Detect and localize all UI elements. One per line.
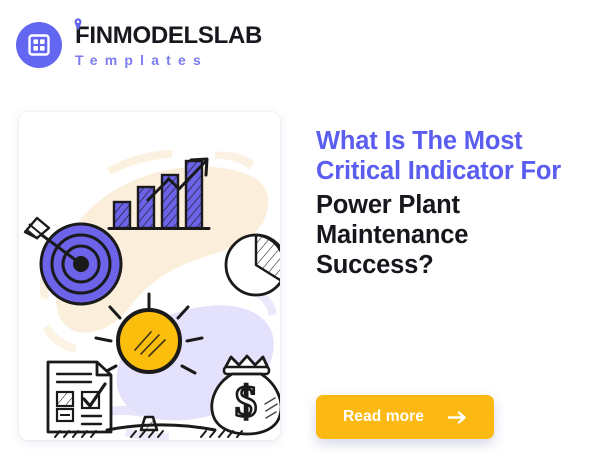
headline-accent: What Is The Most Critical Indicator For (316, 126, 588, 186)
pie-chart-icon (226, 235, 280, 295)
svg-text:$: $ (235, 377, 257, 426)
read-more-label: Read more (343, 408, 424, 426)
brand-name: FINMODELSLAB (75, 24, 262, 48)
grid-squares-icon (16, 22, 62, 68)
headline-block: What Is The Most Critical Indicator For … (316, 126, 588, 280)
business-analytics-illustration: $ (19, 112, 280, 440)
arrow-right-icon (448, 411, 467, 424)
document-checklist-icon (47, 362, 111, 435)
brand-wordmark: FINMODELSLAB Templates (75, 24, 262, 67)
read-more-button[interactable]: Read more (316, 395, 494, 439)
brand-subtitle: Templates (75, 53, 262, 67)
brand-logo[interactable]: FINMODELSLAB Templates (16, 22, 262, 68)
headline-main: Power Plant Maintenance Success? (316, 190, 588, 280)
map-pin-icon (74, 18, 82, 31)
promo-banner: FINMODELSLAB Templates (0, 0, 600, 464)
